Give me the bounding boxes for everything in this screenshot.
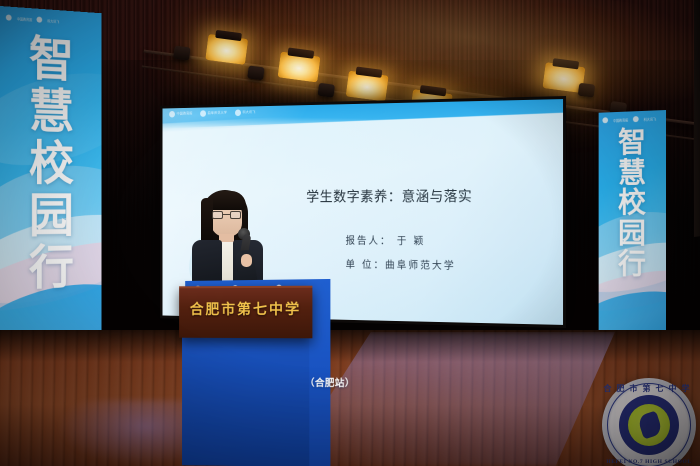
circle-logo-icon (633, 116, 639, 122)
slide-logo-label: 中国教育报 (177, 111, 193, 116)
slide-logo: 中国教育报 (169, 111, 192, 118)
banner-char: 园 (0, 191, 101, 242)
banner-char: 校 (0, 138, 101, 189)
banner-char: 慧 (0, 85, 101, 138)
school-emblem: 合肥市第七中学 HEFEI NO.7 HIGH SCHOOL (602, 378, 696, 466)
podium-lower-panel (182, 335, 309, 466)
circle-logo-icon (37, 17, 43, 23)
slide-logo: 曲阜师范大学 (200, 110, 227, 117)
truss-fixture (578, 83, 596, 98)
glasses-lens-left (212, 211, 223, 219)
emblem-chinese-text: 合肥市第七中学 (602, 383, 696, 394)
stage-light (205, 34, 248, 65)
circle-logo-icon (169, 111, 175, 118)
banner-char: 智 (0, 32, 101, 87)
podium-nameplate-text: 合肥市第七中学 (179, 299, 312, 319)
banner-logo-label: 中国教育报 (17, 16, 32, 22)
glasses-lens-right (230, 211, 241, 219)
banner-logo-label: 科大讯飞 (644, 116, 656, 121)
truss-fixture (317, 83, 335, 98)
banner-left-text: 智 慧 校 园 行 (0, 32, 101, 296)
emblem-english-text: HEFEI NO.7 HIGH SCHOOL (602, 459, 696, 465)
banner-char: 行 (0, 242, 101, 295)
slide-title: 学生数字素养：意涵与落实 (306, 185, 556, 206)
banner-logo-label: 中国教育报 (613, 117, 628, 122)
slide-logo-label: 曲阜师范大学 (208, 111, 227, 116)
circle-logo-icon (603, 117, 609, 123)
circle-logo-icon (6, 15, 12, 21)
glasses-icon (212, 211, 241, 219)
banner-char: 慧 (599, 157, 666, 189)
circle-logo-icon (200, 110, 206, 117)
speaker-hand (241, 254, 252, 267)
conference-stage-photo: 中国教育报 曲阜师范大学 科大讯飞 学生数字素养：意涵与落实 报告 (0, 0, 700, 466)
podium-nameplate-panel: 合肥市第七中学 (179, 286, 312, 339)
truss-fixture (173, 46, 191, 61)
banner-right-text: 智 慧 校 园 行 (599, 126, 666, 280)
banner-logo-label: 科大讯飞 (47, 18, 59, 24)
glasses-bridge (223, 214, 230, 215)
slide-presenter-line: 报告人： 于 颖 (346, 233, 426, 248)
banner-char: 行 (599, 248, 666, 279)
banner-char: 园 (599, 218, 666, 249)
banner-char: 校 (599, 187, 666, 218)
banner-char: 智 (599, 126, 666, 158)
stage-light (346, 71, 389, 102)
slide-logo-label: 科大讯飞 (242, 110, 255, 115)
emblem-core (619, 395, 679, 455)
slide-affiliation-line: 单 位：曲阜师范大学 (346, 257, 456, 273)
floor-shadow (0, 330, 700, 362)
truss-fixture (247, 65, 265, 80)
screen-bezel-right (694, 0, 700, 237)
banner-left-logo-row: 中国教育报 科大讯飞 (6, 15, 59, 24)
banner-right: 中国教育报 科大讯飞 智 慧 校 园 行 (599, 110, 666, 346)
banner-right-logo-row: 中国教育报 科大讯飞 (603, 116, 656, 124)
stage-light (278, 51, 321, 82)
slide-logo: 科大讯飞 (235, 109, 256, 116)
bird-symbol-icon (628, 404, 670, 446)
circle-logo-icon (235, 109, 241, 116)
banner-right-surface: 中国教育报 科大讯飞 智 慧 校 园 行 (599, 110, 666, 346)
